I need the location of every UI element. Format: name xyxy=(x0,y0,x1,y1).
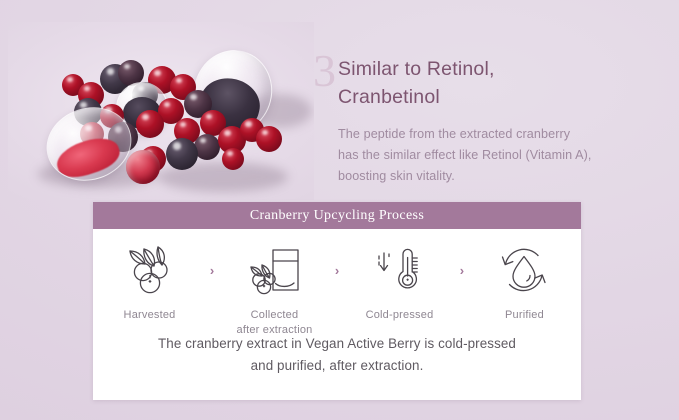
step-separator-chevron-1: › xyxy=(194,243,230,297)
process-card-body: Harvested › xyxy=(93,229,581,400)
step-separator-chevron-2: › xyxy=(319,243,355,297)
thermometer-icon xyxy=(373,243,425,297)
process-step-label: Harvested xyxy=(124,308,176,323)
step-label-line-1: Harvested xyxy=(124,308,176,323)
step-label-line-1: Collected xyxy=(237,308,313,323)
section-body-text: The peptide from the extracted cranberry… xyxy=(338,124,668,187)
page-title: Similar to Retinol, Cranbetinol xyxy=(338,56,668,111)
caption-line-1: The cranberry extract in Vegan Active Be… xyxy=(93,333,581,355)
step-label-line-1: Cold-pressed xyxy=(366,308,434,323)
process-card: Cranberry Upcycling Process xyxy=(93,202,581,400)
cranberry-photo xyxy=(8,22,314,200)
heading-line-2: Cranbetinol xyxy=(338,84,668,112)
caption-line-2: and purified, after extraction. xyxy=(93,355,581,377)
process-card-banner: Cranberry Upcycling Process xyxy=(93,202,581,229)
process-caption: The cranberry extract in Vegan Active Be… xyxy=(93,333,581,376)
glass-berry-front xyxy=(126,150,160,184)
slide-root: 3 Similar to Retinol, Cranbetinol The pe… xyxy=(0,0,679,420)
glass-berries-icon xyxy=(247,243,303,297)
heading-line-1: Similar to Retinol, xyxy=(338,56,668,84)
process-step-cold-pressed: Cold-pressed xyxy=(355,243,444,323)
section-number: 3 xyxy=(313,48,336,94)
process-card-title: Cranberry Upcycling Process xyxy=(250,208,424,224)
droplet-recycle-icon xyxy=(497,243,551,297)
process-step-harvested: Harvested xyxy=(105,243,194,323)
body-line-1: The peptide from the extracted cranberry xyxy=(338,124,668,145)
body-line-3: boosting skin vitality. xyxy=(338,166,668,187)
body-line-2: has the similar effect like Retinol (Vit… xyxy=(338,145,668,166)
process-step-label: Purified xyxy=(505,308,544,323)
step-separator-chevron-3: › xyxy=(444,243,480,297)
process-step-purified: Purified xyxy=(480,243,569,323)
process-step-collected: Collected after extraction xyxy=(230,243,319,338)
berries-icon xyxy=(122,243,178,297)
process-steps: Harvested › xyxy=(93,229,581,338)
step-label-line-1: Purified xyxy=(505,308,544,323)
process-step-label: Cold-pressed xyxy=(366,308,434,323)
